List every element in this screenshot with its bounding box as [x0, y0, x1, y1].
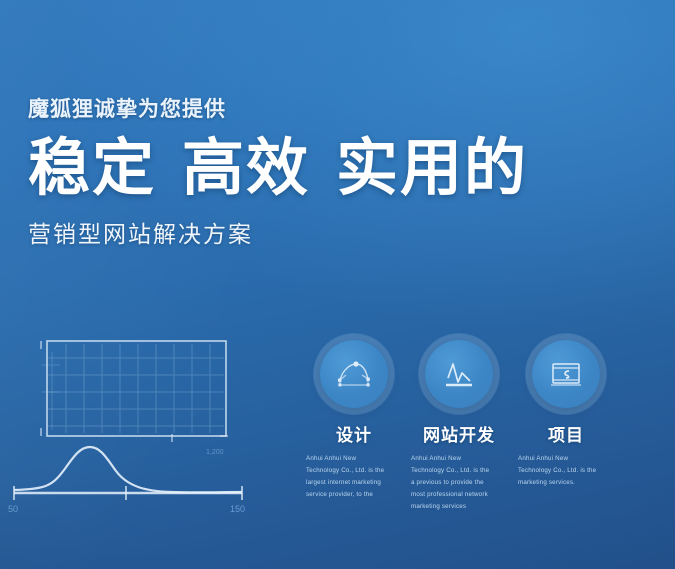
card-body: Anhui Anhui New Technology Co., Ltd. is …: [300, 453, 408, 501]
icon-disc: [425, 340, 493, 408]
card-body: Anhui Anhui New Technology Co., Ltd. is …: [512, 453, 620, 489]
card-body-line: Technology Co., Ltd. is the: [411, 465, 509, 477]
card-body-line: largest internet marketing: [306, 477, 404, 489]
hero-word-3: 实用的: [336, 134, 528, 203]
wireframe-chart: 1,200 50 150: [0, 330, 280, 540]
card-body-line: Anhui Anhui New: [411, 453, 509, 465]
card-title: 设计: [300, 421, 408, 446]
feature-card-design[interactable]: 设计 Anhui Anhui New Technology Co., Ltd. …: [300, 340, 408, 501]
feature-card-project[interactable]: 项目 Anhui Anhui New Technology Co., Ltd. …: [512, 340, 620, 489]
card-title: 网站开发: [405, 421, 513, 446]
axis-label-left: 50: [8, 504, 18, 514]
pen-path-icon: [336, 359, 372, 389]
monitor-screen-icon: [548, 359, 584, 389]
axis-label-right: 150: [230, 504, 245, 514]
card-body-line: most professional network: [411, 489, 509, 501]
analytics-chart-icon: [442, 358, 476, 390]
feature-card-web-development[interactable]: 网站开发 Anhui Anhui New Technology Co., Ltd…: [405, 340, 513, 513]
card-body-line: Technology Co., Ltd. is the: [518, 465, 616, 477]
card-body-line: a previous to provide the: [411, 477, 509, 489]
grid-value-label: 1,200: [206, 449, 224, 456]
sub-title: 营销型网站解决方案: [28, 215, 628, 249]
card-body-line: Anhui Anhui New: [306, 453, 404, 465]
card-body-line: Anhui Anhui New: [518, 453, 616, 465]
card-body-line: marketing services: [411, 501, 509, 513]
hero-title: 稳定高效实用的: [28, 136, 628, 201]
hero-word-1: 稳定: [28, 134, 156, 203]
feature-card-list: 设计 Anhui Anhui New Technology Co., Ltd. …: [292, 340, 672, 540]
icon-disc: [532, 340, 600, 408]
promo-banner: 魔狐狸诚挚为您提供 稳定高效实用的 营销型网站解决方案: [0, 0, 675, 569]
card-body: Anhui Anhui New Technology Co., Ltd. is …: [405, 453, 513, 513]
card-title: 项目: [512, 421, 620, 446]
icon-disc: [320, 340, 388, 408]
card-body-line: marketing services.: [518, 477, 616, 489]
eyebrow-text: 魔狐狸诚挚为您提供: [28, 96, 628, 124]
headline-block: 魔狐狸诚挚为您提供 稳定高效实用的 营销型网站解决方案: [28, 96, 628, 249]
hero-word-2: 高效: [182, 134, 310, 203]
card-body-line: Technology Co., Ltd. is the: [306, 465, 404, 477]
card-body-line: service provider, to the: [306, 489, 404, 501]
